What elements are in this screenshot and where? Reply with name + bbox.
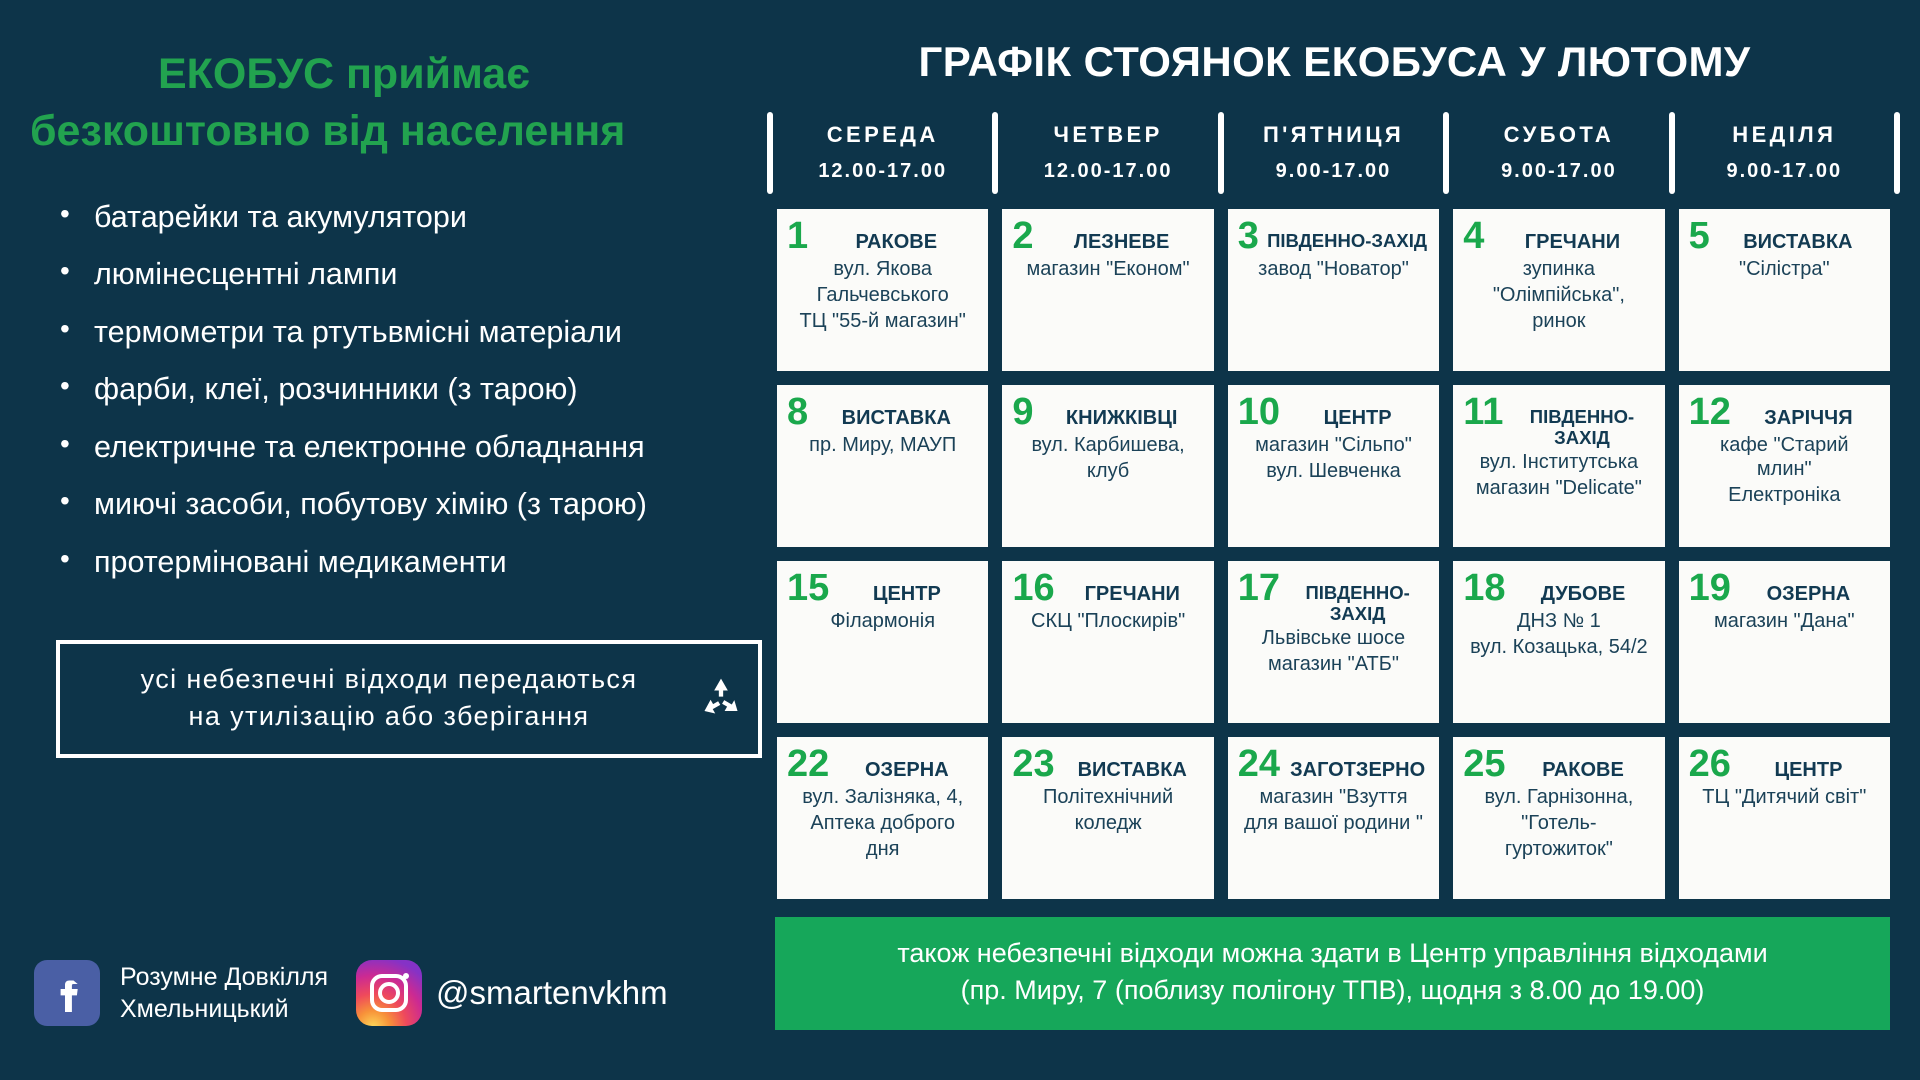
location-name: ПІВДЕННО-ЗАХІД bbox=[1286, 571, 1429, 624]
calendar-day-cell[interactable]: 9КНИЖКІВЦІвул. Карбишева,клуб bbox=[1002, 385, 1213, 547]
day-number: 15 bbox=[787, 571, 835, 607]
weekday-hours: 9.00-17.00 bbox=[1683, 160, 1886, 183]
location-address-line: вул. Залізняка, 4, bbox=[787, 785, 978, 809]
disposal-notice-box: усі небезпечні відходи передаються на ут… bbox=[56, 640, 762, 758]
social-links: Розумне Довкілля Хмельницький @smartenvk… bbox=[34, 960, 668, 1026]
notice-line-1: усі небезпечні відходи передаються bbox=[74, 661, 704, 698]
location-address-line: гуртожиток" bbox=[1463, 837, 1654, 861]
calendar-cell-header: 12ЗАРІЧЧЯ bbox=[1689, 395, 1880, 431]
location-name: ЛЕЗНЕВЕ bbox=[1040, 219, 1204, 253]
location-name: ВИСТАВКА bbox=[814, 395, 978, 429]
day-number: 1 bbox=[787, 219, 814, 255]
facebook-line-1: Розумне Довкілля bbox=[120, 961, 328, 993]
calendar-day-cell[interactable]: 5ВИСТАВКА"Сілістра" bbox=[1679, 209, 1890, 371]
location-address-line: кафе "Старий млин" bbox=[1689, 433, 1880, 481]
recycle-icon bbox=[698, 675, 744, 721]
location-name: ЗАГОТЗЕРНО bbox=[1286, 747, 1429, 781]
location-address-line: магазин "Економ" bbox=[1012, 257, 1203, 281]
location-address-line: магазин "Дана" bbox=[1689, 609, 1880, 633]
location-address-line: "Готель- bbox=[1463, 811, 1654, 835]
weekday-name: НЕДІЛЯ bbox=[1683, 122, 1886, 148]
weekday-hours: 12.00-17.00 bbox=[1006, 160, 1209, 183]
location-address-line: клуб bbox=[1012, 459, 1203, 483]
facebook-line-2: Хмельницький bbox=[120, 993, 328, 1025]
location-name: ЦЕНТР bbox=[1737, 747, 1880, 781]
calendar-cell-header: 4ГРЕЧАНИ bbox=[1463, 219, 1654, 255]
location-address-line: Львівське шосе bbox=[1238, 626, 1429, 650]
location-address-line: вул. Якова bbox=[787, 257, 978, 281]
list-item: люмінесцентні лампи bbox=[52, 259, 749, 290]
calendar-day-cell[interactable]: 8ВИСТАВКАпр. Миру, МАУП bbox=[777, 385, 988, 547]
calendar-day-cell[interactable]: 26ЦЕНТРТЦ "Дитячий світ" bbox=[1679, 737, 1890, 899]
location-address-line: магазин "Delicate" bbox=[1463, 476, 1654, 500]
day-number: 3 bbox=[1238, 219, 1265, 255]
location-address-line: коледж bbox=[1012, 811, 1203, 835]
instagram-dot bbox=[403, 973, 409, 979]
disposal-notice-text: усі небезпечні відходи передаються на ут… bbox=[74, 661, 704, 736]
day-number: 22 bbox=[787, 747, 835, 783]
location-address-line: завод "Новатор" bbox=[1238, 257, 1429, 281]
location-name: ПІВДЕННО-ЗАХІД bbox=[1265, 219, 1429, 252]
weekday-hours: 9.00-17.00 bbox=[1232, 160, 1435, 183]
weekday-name: П'ЯТНИЦЯ bbox=[1232, 122, 1435, 148]
calendar-day-cell[interactable]: 25РАКОВЕвул. Гарнізонна,"Готель-гуртожит… bbox=[1453, 737, 1664, 899]
location-name: КНИЖКІВЦІ bbox=[1040, 395, 1204, 429]
calendar-day-cell[interactable]: 17ПІВДЕННО-ЗАХІДЛьвівське шосемагазин "А… bbox=[1228, 561, 1439, 723]
facebook-icon[interactable] bbox=[34, 960, 100, 1026]
location-address-line: вул. Інститутська bbox=[1463, 450, 1654, 474]
location-address-line: вул. Козацька, 54/2 bbox=[1463, 635, 1654, 659]
calendar-day-cell[interactable]: 2ЛЕЗНЕВЕмагазин "Економ" bbox=[1002, 209, 1213, 371]
location-address-line: "Сілістра" bbox=[1689, 257, 1880, 281]
location-address-line: ТЦ "55-й магазин" bbox=[787, 309, 978, 333]
location-address-line: Політехнічний bbox=[1012, 785, 1203, 809]
location-address-line: пр. Миру, МАУП bbox=[787, 433, 978, 457]
location-address-line: зупинка bbox=[1463, 257, 1654, 281]
location-name: ОЗЕРНА bbox=[1737, 571, 1880, 605]
calendar-cell-header: 16ГРЕЧАНИ bbox=[1012, 571, 1203, 607]
weekday-header: ЧЕТВЕР 12.00-17.00 bbox=[1002, 110, 1213, 195]
location-address-line: вул. Шевченка bbox=[1238, 459, 1429, 483]
calendar-day-cell[interactable]: 16ГРЕЧАНИСКЦ "Плоскирів" bbox=[1002, 561, 1213, 723]
weekday-header: СУБОТА 9.00-17.00 bbox=[1453, 110, 1664, 195]
notice-line-2: на утилізацію або зберігання bbox=[74, 698, 704, 735]
day-number: 24 bbox=[1238, 747, 1286, 783]
calendar-day-cell[interactable]: 15ЦЕНТРФілармонія bbox=[777, 561, 988, 723]
calendar-grid: 1РАКОВЕвул. ЯковаГальчевськогоТЦ "55-й м… bbox=[775, 209, 1890, 899]
location-name: ВИСТАВКА bbox=[1061, 747, 1204, 781]
list-item: протерміновані медикаменти bbox=[52, 547, 749, 578]
location-name: РАКОВЕ bbox=[1511, 747, 1654, 781]
location-name: ДУБОВЕ bbox=[1511, 571, 1654, 605]
right-panel: ГРАФІК СТОЯНОК ЕКОБУСА У ЛЮТОМУ СЕРЕДА 1… bbox=[775, 0, 1920, 1080]
location-address-line: магазин "Сільпо" bbox=[1238, 433, 1429, 457]
day-number: 11 bbox=[1463, 395, 1509, 431]
infographic-page: ЕКОБУС приймає безкоштовно від населення… bbox=[0, 0, 1920, 1080]
calendar-day-cell[interactable]: 1РАКОВЕвул. ЯковаГальчевськогоТЦ "55-й м… bbox=[777, 209, 988, 371]
location-address-line: вул. Карбишева, bbox=[1012, 433, 1203, 457]
calendar-cell-header: 8ВИСТАВКА bbox=[787, 395, 978, 431]
location-address-line: СКЦ "Плоскирів" bbox=[1012, 609, 1203, 633]
location-name: ГРЕЧАНИ bbox=[1061, 571, 1204, 605]
instagram-handle: @smartenvkhm bbox=[436, 974, 668, 1012]
day-number: 8 bbox=[787, 395, 814, 431]
weekday-header-row: СЕРЕДА 12.00-17.00 ЧЕТВЕР 12.00-17.00 П'… bbox=[775, 110, 1890, 195]
calendar-cell-header: 10ЦЕНТР bbox=[1238, 395, 1429, 431]
day-number: 16 bbox=[1012, 571, 1060, 607]
calendar-day-cell[interactable]: 4ГРЕЧАНИзупинка"Олімпійська",ринок bbox=[1453, 209, 1664, 371]
weekday-name: СУБОТА bbox=[1457, 122, 1660, 148]
day-number: 18 bbox=[1463, 571, 1511, 607]
calendar-cell-header: 5ВИСТАВКА bbox=[1689, 219, 1880, 255]
calendar-cell-header: 11ПІВДЕННО-ЗАХІД bbox=[1463, 395, 1654, 448]
weekday-hours: 12.00-17.00 bbox=[781, 160, 984, 183]
weekday-header: СЕРЕДА 12.00-17.00 bbox=[777, 110, 988, 195]
list-item: фарби, клеї, розчинники (з тарою) bbox=[52, 374, 749, 405]
day-number: 17 bbox=[1238, 571, 1286, 607]
location-address-line: "Олімпійська", bbox=[1463, 283, 1654, 307]
facebook-label: Розумне Довкілля Хмельницький bbox=[120, 961, 328, 1025]
calendar-cell-header: 15ЦЕНТР bbox=[787, 571, 978, 607]
list-item: миючі засоби, побутову хімію (з тарою) bbox=[52, 489, 749, 520]
location-address-line: дня bbox=[787, 837, 978, 861]
calendar-day-cell[interactable]: 11ПІВДЕННО-ЗАХІДвул. Інститутськамагазин… bbox=[1453, 385, 1664, 547]
location-address-line: Гальчевського bbox=[787, 283, 978, 307]
location-name: ЦЕНТР bbox=[835, 571, 978, 605]
calendar-day-cell[interactable]: 19ОЗЕРНАмагазин "Дана" bbox=[1679, 561, 1890, 723]
calendar-cell-header: 26ЦЕНТР bbox=[1689, 747, 1880, 783]
calendar-day-cell[interactable]: 22ОЗЕРНАвул. Залізняка, 4,Аптека доброго… bbox=[777, 737, 988, 899]
calendar-day-cell[interactable]: 23ВИСТАВКАПолітехнічнийколедж bbox=[1002, 737, 1213, 899]
location-address-line: Філармонія bbox=[787, 609, 978, 633]
location-name: ЦЕНТР bbox=[1286, 395, 1429, 429]
day-number: 12 bbox=[1689, 395, 1737, 431]
instagram-icon[interactable] bbox=[356, 960, 422, 1026]
location-address-line: ДНЗ № 1 bbox=[1463, 609, 1654, 633]
calendar-day-cell[interactable]: 12ЗАРІЧЧЯкафе "Старий млин"Електроніка bbox=[1679, 385, 1890, 547]
calendar-cell-header: 3ПІВДЕННО-ЗАХІД bbox=[1238, 219, 1429, 255]
weekday-header: НЕДІЛЯ 9.00-17.00 bbox=[1679, 110, 1890, 195]
headline-line-2: безкоштовно від населення bbox=[30, 103, 749, 160]
extra-dropoff-banner: також небезпечні відходи можна здати в Ц… bbox=[775, 917, 1890, 1030]
location-address-line: магазин "АТБ" bbox=[1238, 652, 1429, 676]
day-number: 2 bbox=[1012, 219, 1039, 255]
location-name: РАКОВЕ bbox=[814, 219, 978, 253]
list-item: батарейки та акумулятори bbox=[52, 202, 749, 233]
location-address-line: ТЦ "Дитячий світ" bbox=[1689, 785, 1880, 809]
banner-line-1: також небезпечні відходи можна здати в Ц… bbox=[795, 935, 1870, 972]
accepted-items-list: батарейки та акумулятори люмінесцентні л… bbox=[30, 202, 749, 605]
location-name: ГРЕЧАНИ bbox=[1490, 219, 1654, 253]
list-item: електричне та електронне обладнання bbox=[52, 432, 749, 463]
day-number: 10 bbox=[1238, 395, 1286, 431]
day-number: 25 bbox=[1463, 747, 1511, 783]
calendar-cell-header: 25РАКОВЕ bbox=[1463, 747, 1654, 783]
location-name: ЗАРІЧЧЯ bbox=[1737, 395, 1880, 429]
page-title: ГРАФІК СТОЯНОК ЕКОБУСА У ЛЮТОМУ bbox=[775, 30, 1890, 86]
location-address-line: Аптека доброго bbox=[787, 811, 978, 835]
calendar-day-cell[interactable]: 3ПІВДЕННО-ЗАХІДзавод "Новатор" bbox=[1228, 209, 1439, 371]
location-address-line: вул. Гарнізонна, bbox=[1463, 785, 1654, 809]
left-panel: ЕКОБУС приймає безкоштовно від населення… bbox=[0, 0, 775, 1080]
calendar-cell-header: 19ОЗЕРНА bbox=[1689, 571, 1880, 607]
location-address-line: Електроніка bbox=[1689, 483, 1880, 507]
calendar-cell-header: 18ДУБОВЕ bbox=[1463, 571, 1654, 607]
weekday-hours: 9.00-17.00 bbox=[1457, 160, 1660, 183]
calendar-cell-header: 2ЛЕЗНЕВЕ bbox=[1012, 219, 1203, 255]
calendar-cell-header: 22ОЗЕРНА bbox=[787, 747, 978, 783]
calendar-cell-header: 1РАКОВЕ bbox=[787, 219, 978, 255]
location-address-line: магазин "Взуття bbox=[1238, 785, 1429, 809]
calendar-day-cell[interactable]: 18ДУБОВЕДНЗ № 1вул. Козацька, 54/2 bbox=[1453, 561, 1664, 723]
headline: ЕКОБУС приймає безкоштовно від населення bbox=[30, 46, 749, 160]
day-number: 26 bbox=[1689, 747, 1737, 783]
location-address-line: для вашої родини " bbox=[1238, 811, 1429, 835]
calendar-cell-header: 9КНИЖКІВЦІ bbox=[1012, 395, 1203, 431]
calendar-cell-header: 17ПІВДЕННО-ЗАХІД bbox=[1238, 571, 1429, 624]
weekday-name: ЧЕТВЕР bbox=[1006, 122, 1209, 148]
list-item: термометри та ртутьвмісні матеріали bbox=[52, 317, 749, 348]
location-address-line: ринок bbox=[1463, 309, 1654, 333]
weekday-header: П'ЯТНИЦЯ 9.00-17.00 bbox=[1228, 110, 1439, 195]
instagram-lens bbox=[378, 982, 400, 1004]
calendar-cell-header: 23ВИСТАВКА bbox=[1012, 747, 1203, 783]
day-number: 5 bbox=[1689, 219, 1716, 255]
day-number: 9 bbox=[1012, 395, 1039, 431]
banner-line-2: (пр. Миру, 7 (поблизу полігону ТПВ), щод… bbox=[795, 972, 1870, 1009]
headline-line-1: ЕКОБУС приймає bbox=[158, 50, 530, 98]
location-name: ВИСТАВКА bbox=[1716, 219, 1880, 253]
location-name: ПІВДЕННО-ЗАХІД bbox=[1509, 395, 1654, 448]
day-number: 23 bbox=[1012, 747, 1060, 783]
calendar-day-cell[interactable]: 10ЦЕНТРмагазин "Сільпо"вул. Шевченка bbox=[1228, 385, 1439, 547]
calendar-day-cell[interactable]: 24ЗАГОТЗЕРНОмагазин "Взуттядля вашої род… bbox=[1228, 737, 1439, 899]
day-number: 4 bbox=[1463, 219, 1490, 255]
weekday-name: СЕРЕДА bbox=[781, 122, 984, 148]
day-number: 19 bbox=[1689, 571, 1737, 607]
calendar-cell-header: 24ЗАГОТЗЕРНО bbox=[1238, 747, 1429, 783]
location-name: ОЗЕРНА bbox=[835, 747, 978, 781]
